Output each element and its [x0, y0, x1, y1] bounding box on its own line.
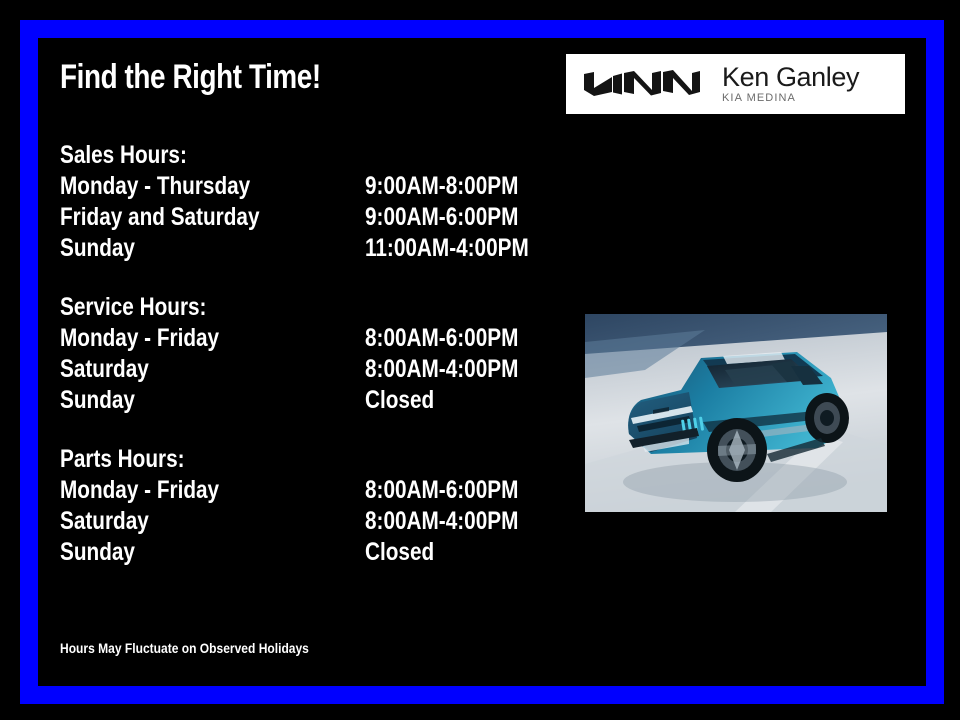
time-value: 11:00AM-4:00PM	[365, 233, 529, 264]
slide-canvas: Find the Right Time! Sales Hours: Monday…	[0, 0, 960, 720]
hours-row: Sunday Closed	[60, 385, 550, 416]
hours-row: Sunday Closed	[60, 537, 550, 568]
day-label: Friday and Saturday	[60, 202, 313, 233]
day-label: Saturday	[60, 354, 313, 385]
dealer-logo-lockup: Ken Ganley KIA MEDINA	[566, 54, 905, 114]
day-label: Sunday	[60, 385, 313, 416]
day-label: Saturday	[60, 506, 313, 537]
hours-row: Saturday 8:00AM-4:00PM	[60, 506, 550, 537]
hours-row: Monday - Friday 8:00AM-6:00PM	[60, 475, 550, 506]
time-value: Closed	[365, 537, 434, 568]
dealer-name-block: Ken Ganley KIA MEDINA	[722, 63, 859, 105]
time-value: 9:00AM-8:00PM	[365, 171, 518, 202]
dealer-location: KIA MEDINA	[722, 91, 859, 105]
hours-block-sales: Sales Hours: Monday - Thursday 9:00AM-8:…	[60, 140, 562, 264]
dealer-name: Ken Ganley	[722, 63, 859, 91]
hours-block-heading: Sales Hours:	[60, 140, 477, 171]
holiday-disclaimer: Hours May Fluctuate on Observed Holidays	[60, 640, 309, 656]
hours-row: Monday - Thursday 9:00AM-8:00PM	[60, 171, 562, 202]
vehicle-photo	[585, 314, 887, 512]
kia-ev9-illustration	[585, 314, 887, 512]
day-label: Monday - Friday	[60, 323, 313, 354]
hours-block-service: Service Hours: Monday - Friday 8:00AM-6:…	[60, 292, 550, 416]
time-value: Closed	[365, 385, 434, 416]
time-value: 8:00AM-4:00PM	[365, 506, 518, 537]
day-label: Sunday	[60, 233, 313, 264]
hours-row: Friday and Saturday 9:00AM-6:00PM	[60, 202, 562, 233]
time-value: 9:00AM-6:00PM	[365, 202, 518, 233]
time-value: 8:00AM-4:00PM	[365, 354, 518, 385]
hours-block-heading: Parts Hours:	[60, 444, 467, 475]
day-label: Monday - Thursday	[60, 171, 313, 202]
kia-logo-icon	[582, 67, 702, 101]
time-value: 8:00AM-6:00PM	[365, 323, 518, 354]
hours-row: Monday - Friday 8:00AM-6:00PM	[60, 323, 550, 354]
time-value: 8:00AM-6:00PM	[365, 475, 518, 506]
hours-block-heading: Service Hours:	[60, 292, 467, 323]
hours-row: Saturday 8:00AM-4:00PM	[60, 354, 550, 385]
day-label: Monday - Friday	[60, 475, 313, 506]
hours-block-parts: Parts Hours: Monday - Friday 8:00AM-6:00…	[60, 444, 550, 568]
hours-row: Sunday 11:00AM-4:00PM	[60, 233, 562, 264]
day-label: Sunday	[60, 537, 313, 568]
page-title: Find the Right Time!	[60, 58, 321, 97]
